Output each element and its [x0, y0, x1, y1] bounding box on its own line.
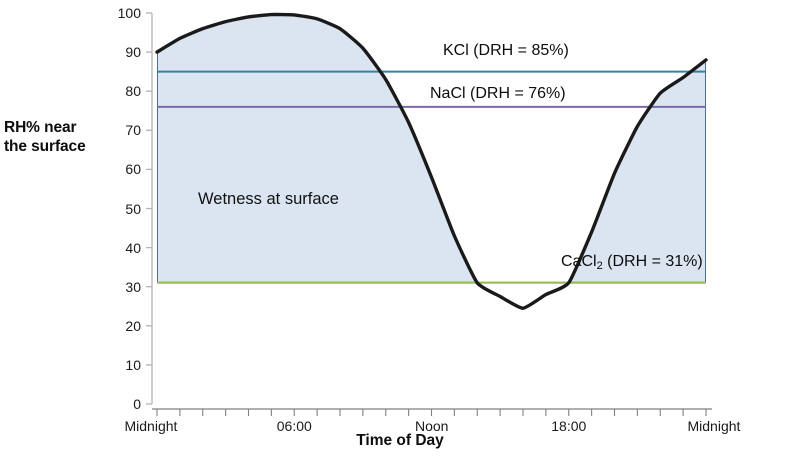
y-tick-label: 80	[109, 84, 141, 98]
annotation-cacl2-suffix: (DRH = 31%)	[603, 253, 703, 270]
x-axis-title: Time of Day	[0, 432, 800, 450]
x-tick-label: Midnight	[688, 419, 741, 433]
y-tick-label: 0	[109, 397, 141, 411]
y-tick-label: 10	[109, 358, 141, 372]
x-tick-label: 18:00	[551, 419, 586, 433]
y-tick-label: 60	[109, 162, 141, 176]
annotation-nacl: NaCl (DRH = 76%)	[430, 85, 566, 103]
annotation-cacl2-prefix: CaCl	[561, 253, 597, 270]
y-axis-title-line2: the surface	[4, 137, 108, 156]
annotation-kcl: KCl (DRH = 85%)	[443, 42, 569, 60]
y-tick-label: 100	[109, 6, 141, 20]
y-tick-label: 30	[109, 280, 141, 294]
x-tick-label: Noon	[415, 419, 448, 433]
x-tick-label: 06:00	[277, 419, 312, 433]
y-tick-label: 70	[109, 123, 141, 137]
y-tick-label: 20	[109, 319, 141, 333]
x-tick-label: Midnight	[125, 419, 178, 433]
y-axis-title-line1: RH% near	[4, 118, 108, 137]
y-tick-label: 90	[109, 45, 141, 59]
annotation-cacl2-subscript: 2	[597, 260, 603, 272]
y-axis-title: RH% near the surface	[4, 118, 108, 156]
annotation-wetness: Wetness at surface	[198, 190, 339, 209]
annotation-cacl2: CaCl2 (DRH = 31%)	[561, 253, 703, 272]
chart-figure: RH% near the surface Time of Day 1009080…	[0, 0, 800, 464]
y-tick-label: 50	[109, 202, 141, 216]
plot-canvas	[0, 0, 800, 464]
y-tick-label: 40	[109, 241, 141, 255]
